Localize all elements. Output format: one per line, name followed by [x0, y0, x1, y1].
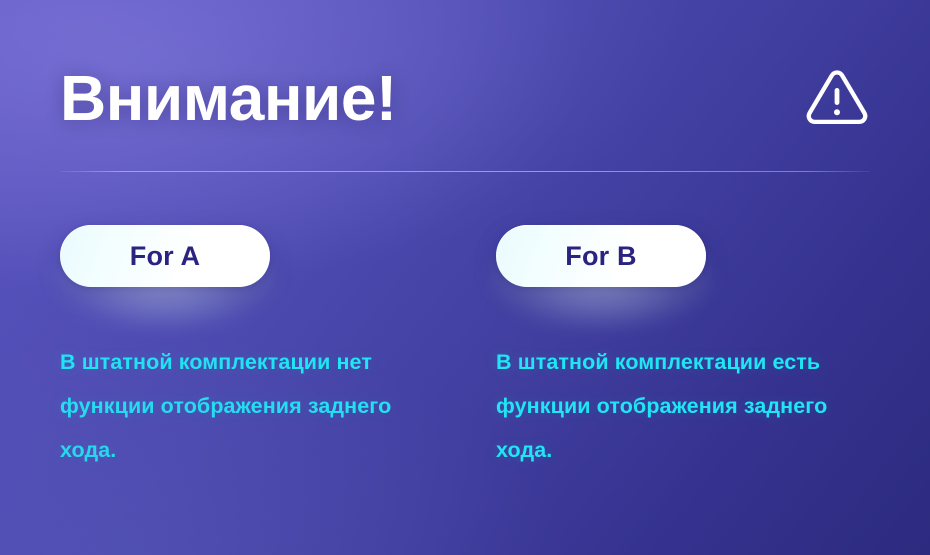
body-text-for-a: В штатной комплектации нет функции отобр…	[60, 340, 450, 472]
column-for-a: For A В штатной комплектации нет функции…	[60, 225, 496, 472]
pill-for-a-wrapper: For A	[60, 225, 270, 287]
pill-for-a-label: For A	[130, 243, 201, 270]
pill-for-b-wrapper: For B	[496, 225, 706, 287]
slide-canvas: Внимание! For A В штатной комплектации н…	[0, 0, 930, 555]
pill-for-a[interactable]: For A	[60, 225, 270, 287]
pill-for-b[interactable]: For B	[496, 225, 706, 287]
page-title: Внимание!	[60, 50, 397, 146]
pill-for-b-label: For B	[565, 243, 637, 270]
slide-header: Внимание!	[60, 50, 870, 146]
body-text-for-b: В штатной комплектации есть функции отоб…	[496, 340, 878, 472]
header-divider	[60, 171, 870, 172]
warning-triangle-icon	[804, 64, 870, 130]
column-for-b: For B В штатной комплектации есть функци…	[496, 225, 870, 472]
comparison-columns: For A В штатной комплектации нет функции…	[60, 225, 870, 472]
